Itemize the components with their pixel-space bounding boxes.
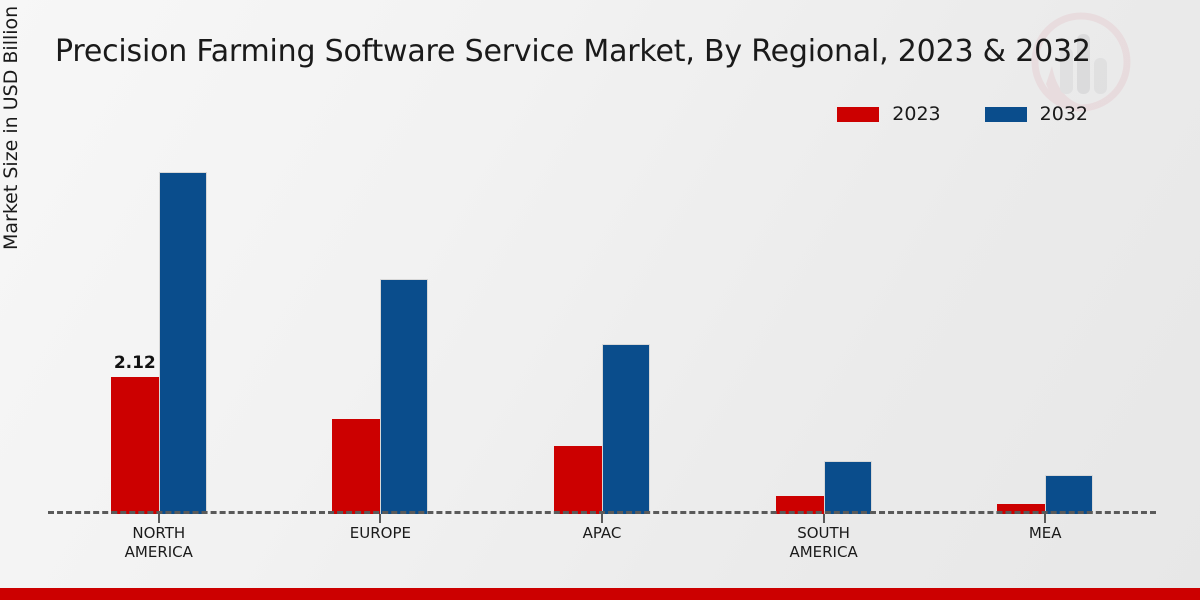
x-axis-tick: [158, 514, 160, 523]
legend-label-2032: 2032: [1040, 105, 1088, 124]
chart-container: Precision Farming Software Service Marke…: [0, 0, 1200, 600]
bar-group: MEA: [934, 140, 1156, 514]
bar-pair: [332, 140, 428, 514]
legend-swatch-2023: [837, 107, 879, 122]
bar-2023[interactable]: 2.12: [111, 377, 159, 514]
x-axis-category-label: SOUTH AMERICA: [734, 524, 914, 562]
bar-group: 2.12NORTH AMERICA: [48, 140, 270, 514]
bar-group: APAC: [491, 140, 713, 514]
bar-2023[interactable]: [554, 446, 602, 514]
x-axis-tick: [823, 514, 825, 523]
bar-pair: [554, 140, 650, 514]
bar-value-label: 2.12: [114, 353, 156, 373]
bar-2032[interactable]: [1045, 475, 1093, 514]
y-axis-title: Market Size in USD Billion: [0, 0, 22, 250]
x-axis-category-label: NORTH AMERICA: [69, 524, 249, 562]
legend-swatch-2032: [985, 107, 1027, 122]
x-axis-tick: [1044, 514, 1046, 523]
bar-group: SOUTH AMERICA: [713, 140, 935, 514]
x-axis-tick: [601, 514, 603, 523]
legend-item-2023[interactable]: 2023: [837, 105, 940, 124]
x-axis-category-label: APAC: [512, 524, 692, 543]
plot-area: 2.12NORTH AMERICAEUROPEAPACSOUTH AMERICA…: [48, 140, 1156, 514]
legend-label-2023: 2023: [892, 105, 940, 124]
bottom-accent-stripe: [0, 588, 1200, 600]
chart-legend: 2023 2032: [837, 105, 1088, 124]
legend-item-2032[interactable]: 2032: [985, 105, 1088, 124]
bar-pair: [776, 140, 872, 514]
x-axis-tick: [379, 514, 381, 523]
x-axis-baseline: [48, 511, 1156, 514]
bar-pair: [997, 140, 1093, 514]
bar-2032[interactable]: [602, 344, 650, 514]
bar-2032[interactable]: [824, 461, 872, 514]
bar-2032[interactable]: [159, 172, 207, 514]
bar-group: EUROPE: [270, 140, 492, 514]
bar-groups: 2.12NORTH AMERICAEUROPEAPACSOUTH AMERICA…: [48, 140, 1156, 514]
bar-2032[interactable]: [380, 279, 428, 514]
bar-2023[interactable]: [332, 419, 380, 514]
x-axis-category-label: EUROPE: [290, 524, 470, 543]
chart-title: Precision Farming Software Service Marke…: [55, 34, 1091, 69]
bar-pair: 2.12: [111, 140, 207, 514]
x-axis-category-label: MEA: [955, 524, 1135, 543]
